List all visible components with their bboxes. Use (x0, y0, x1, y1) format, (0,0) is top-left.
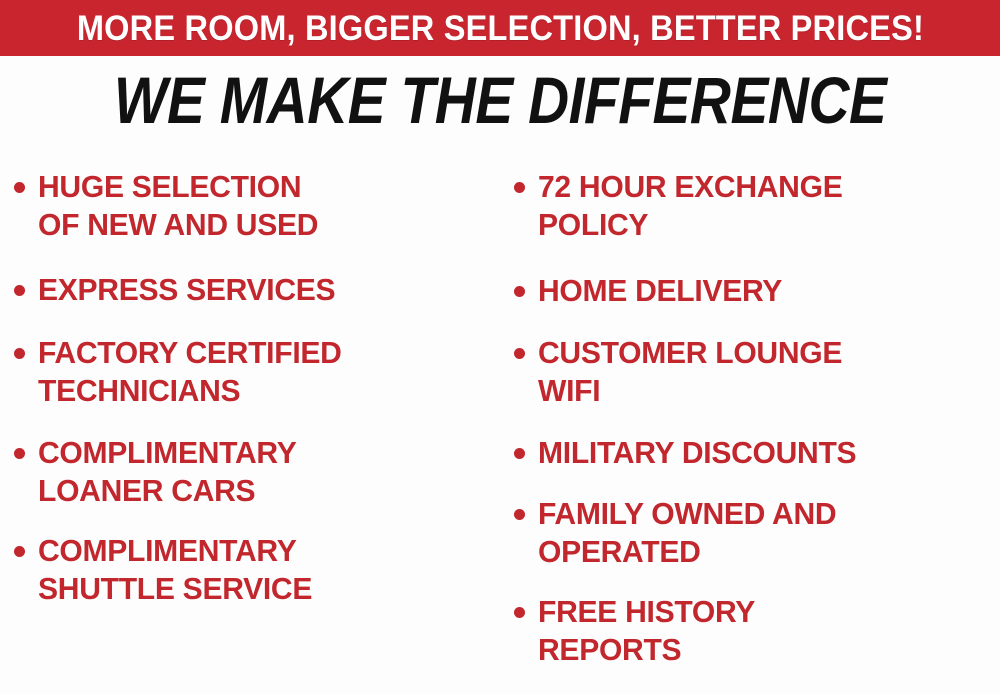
list-item: COMPLIMENTARY LOANER CARS (14, 434, 506, 510)
top-banner: MORE ROOM, BIGGER SELECTION, BETTER PRIC… (0, 0, 1000, 56)
list-item: FACTORY CERTIFIED TECHNICIANS (14, 334, 506, 410)
headline-container: WE MAKE THE DIFFERENCE (0, 62, 1000, 138)
list-item: HUGE SELECTION OF NEW AND USED (14, 168, 506, 244)
list-item-label: COMPLIMENTARY LOANER CARS (38, 434, 492, 510)
list-item-label: FAMILY OWNED AND OPERATED (538, 495, 1000, 571)
benefits-column-right: 72 HOUR EXCHANGE POLICY HOME DELIVERY CU… (514, 152, 1000, 669)
list-item: 72 HOUR EXCHANGE POLICY (514, 168, 1000, 244)
bullet-dot-icon (514, 286, 525, 297)
list-item: MILITARY DISCOUNTS (514, 434, 1000, 472)
bullet-dot-icon (14, 182, 25, 193)
main-headline: WE MAKE THE DIFFERENCE (114, 67, 887, 133)
list-item-label: HUGE SELECTION OF NEW AND USED (38, 168, 492, 244)
list-item-label: COMPLIMENTARY SHUTTLE SERVICE (38, 532, 492, 608)
list-item: COMPLIMENTARY SHUTTLE SERVICE (14, 532, 506, 608)
advertisement-flyer: MORE ROOM, BIGGER SELECTION, BETTER PRIC… (0, 0, 1000, 694)
bullet-dot-icon (514, 509, 525, 520)
list-item-label: CUSTOMER LOUNGE WIFI (538, 334, 1000, 410)
bullet-dot-icon (14, 546, 25, 557)
bullet-dot-icon (14, 348, 25, 359)
list-item-label: FACTORY CERTIFIED TECHNICIANS (38, 334, 492, 410)
bullet-dot-icon (14, 285, 25, 296)
list-item: EXPRESS SERVICES (14, 271, 506, 309)
list-item-label: MILITARY DISCOUNTS (538, 434, 1000, 472)
bullet-dot-icon (514, 182, 525, 193)
banner-headline-text: MORE ROOM, BIGGER SELECTION, BETTER PRIC… (76, 11, 923, 46)
list-item: HOME DELIVERY (514, 272, 1000, 310)
list-item: FREE HISTORY REPORTS (514, 593, 1000, 669)
benefits-column-left: HUGE SELECTION OF NEW AND USED EXPRESS S… (14, 152, 506, 608)
benefits-columns: HUGE SELECTION OF NEW AND USED EXPRESS S… (0, 152, 1000, 694)
list-item-label: EXPRESS SERVICES (38, 271, 492, 309)
bullet-dot-icon (514, 348, 525, 359)
bullet-dot-icon (514, 448, 525, 459)
list-item-label: HOME DELIVERY (538, 272, 1000, 310)
bullet-dot-icon (14, 448, 25, 459)
list-item: FAMILY OWNED AND OPERATED (514, 495, 1000, 571)
list-item-label: FREE HISTORY REPORTS (538, 593, 1000, 669)
bullet-dot-icon (514, 607, 525, 618)
list-item: CUSTOMER LOUNGE WIFI (514, 334, 1000, 410)
list-item-label: 72 HOUR EXCHANGE POLICY (538, 168, 1000, 244)
